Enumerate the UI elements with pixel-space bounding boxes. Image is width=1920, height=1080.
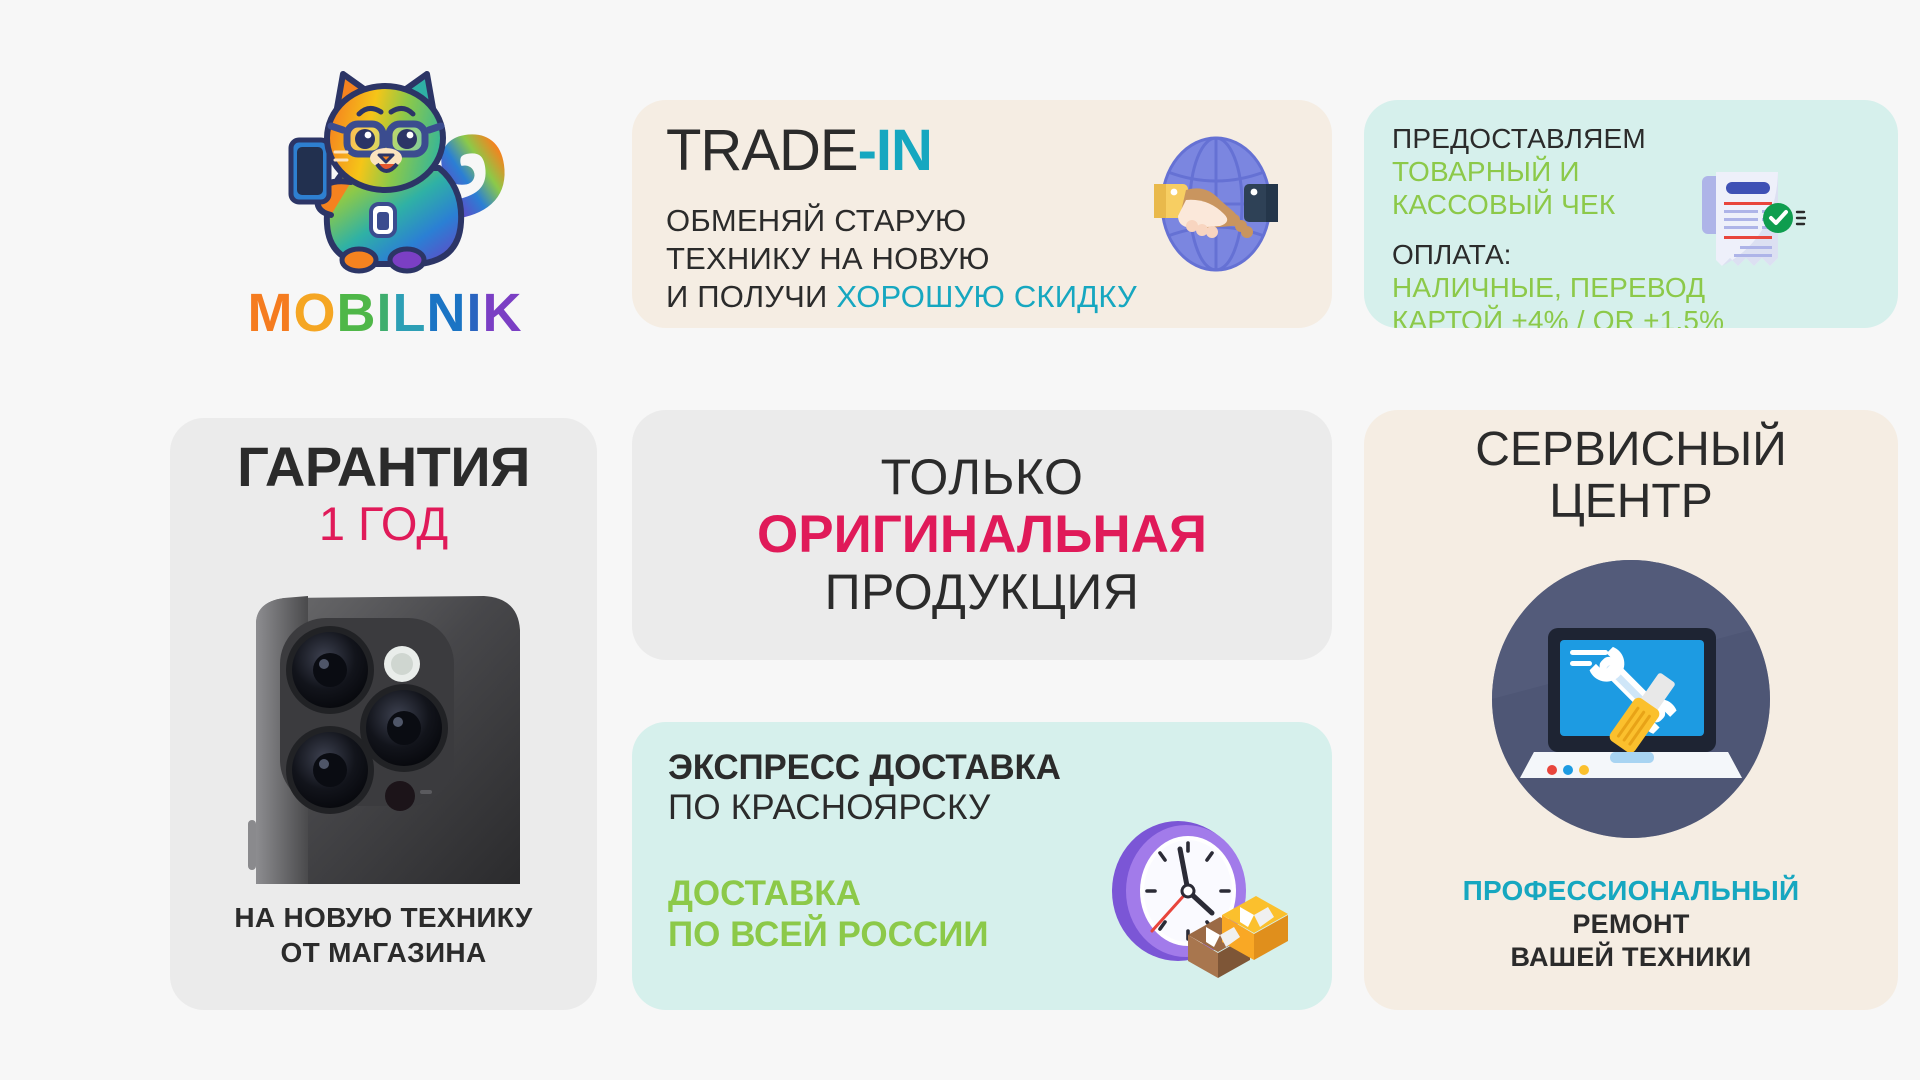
checks-line-1: ПРЕДОСТАВЛЯЕМ (1392, 122, 1898, 155)
service-foot-line-2: РЕМОНТ (1364, 908, 1898, 941)
warranty-foot-line-1: НА НОВУЮ ТЕХНИКУ (170, 900, 597, 935)
original-line-3: ПРОДУКЦИЯ (825, 565, 1140, 620)
trade-in-title-accent: -IN (858, 118, 932, 183)
warranty-term: 1 ГОД (170, 498, 597, 550)
handshake-globe-icon (1142, 130, 1290, 278)
card-delivery[interactable]: ЭКСПРЕСС ДОСТАВКА ПО КРАСНОЯРСКУ ДОСТАВК… (632, 722, 1332, 1010)
warranty-head: ГАРАНТИЯ 1 ГОД (170, 418, 597, 550)
checks-line-2: ТОВАРНЫЙ И (1392, 155, 1898, 188)
original-line-2: ОРИГИНАЛЬНАЯ (757, 505, 1207, 566)
delivery-line-1: ЭКСПРЕСС ДОСТАВКА (668, 748, 1332, 787)
checks-payment-line-2: КАРТОЙ +4% / QR +1.5% (1392, 304, 1898, 328)
original-line-1: ТОЛЬКО (881, 450, 1084, 505)
trade-in-line-3: И ПОЛУЧИ ХОРОШУЮ СКИДКУ (666, 278, 1332, 316)
clock-parcels-icon (1100, 815, 1290, 980)
laptop-repair-tools-icon (1492, 560, 1770, 838)
trade-in-title-main: TRADE (666, 118, 858, 183)
black-titanium-iphone-icon (218, 594, 558, 884)
receipt-check-icon (1696, 160, 1806, 280)
card-receipts-payment[interactable]: ПРЕДОСТАВЛЯЕМ ТОВАРНЫЙ И КАССОВЫЙ ЧЕК ОП… (1364, 100, 1898, 328)
brand-block: MOBILNIK (170, 60, 600, 380)
card-warranty[interactable]: ГАРАНТИЯ 1 ГОД (170, 418, 597, 1010)
service-title-line-2: ЦЕНТР (1364, 476, 1898, 528)
rainbow-cat-with-phone-icon (255, 60, 515, 292)
trade-in-line-3-plain: И ПОЛУЧИ (666, 279, 836, 314)
checks-payment-label: ОПЛАТА: (1392, 239, 1898, 271)
brand-logo-text: MOBILNIK (247, 286, 522, 340)
checks-payment-line-1: НАЛИЧНЫЕ, ПЕРЕВОД (1392, 271, 1898, 304)
warranty-foot-line-2: ОТ МАГАЗИНА (170, 935, 597, 970)
service-title-line-1: СЕРВИСНЫЙ (1364, 424, 1898, 476)
promo-grid: MOBILNIK TRADE-IN ОБМЕНЯЙ СТАРУЮ ТЕХНИКУ… (0, 0, 1920, 1080)
service-footer: ПРОФЕССИОНАЛЬНЫЙ РЕМОНТ ВАШЕЙ ТЕХНИКИ (1364, 874, 1898, 974)
card-original-products[interactable]: ТОЛЬКО ОРИГИНАЛЬНАЯ ПРОДУКЦИЯ (632, 410, 1332, 660)
service-foot-line-3: ВАШЕЙ ТЕХНИКИ (1364, 941, 1898, 974)
card-trade-in[interactable]: TRADE-IN ОБМЕНЯЙ СТАРУЮ ТЕХНИКУ НА НОВУЮ… (632, 100, 1332, 328)
trade-in-line-3-accent: ХОРОШУЮ СКИДКУ (836, 279, 1137, 314)
service-title: СЕРВИСНЫЙ ЦЕНТР (1364, 410, 1898, 528)
checks-line-3: КАССОВЫЙ ЧЕК (1392, 188, 1898, 221)
card-service-center[interactable]: СЕРВИСНЫЙ ЦЕНТР (1364, 410, 1898, 1010)
warranty-title: ГАРАНТИЯ (170, 438, 597, 496)
service-foot-line-1: ПРОФЕССИОНАЛЬНЫЙ (1364, 874, 1898, 908)
warranty-footer: НА НОВУЮ ТЕХНИКУ ОТ МАГАЗИНА (170, 900, 597, 970)
